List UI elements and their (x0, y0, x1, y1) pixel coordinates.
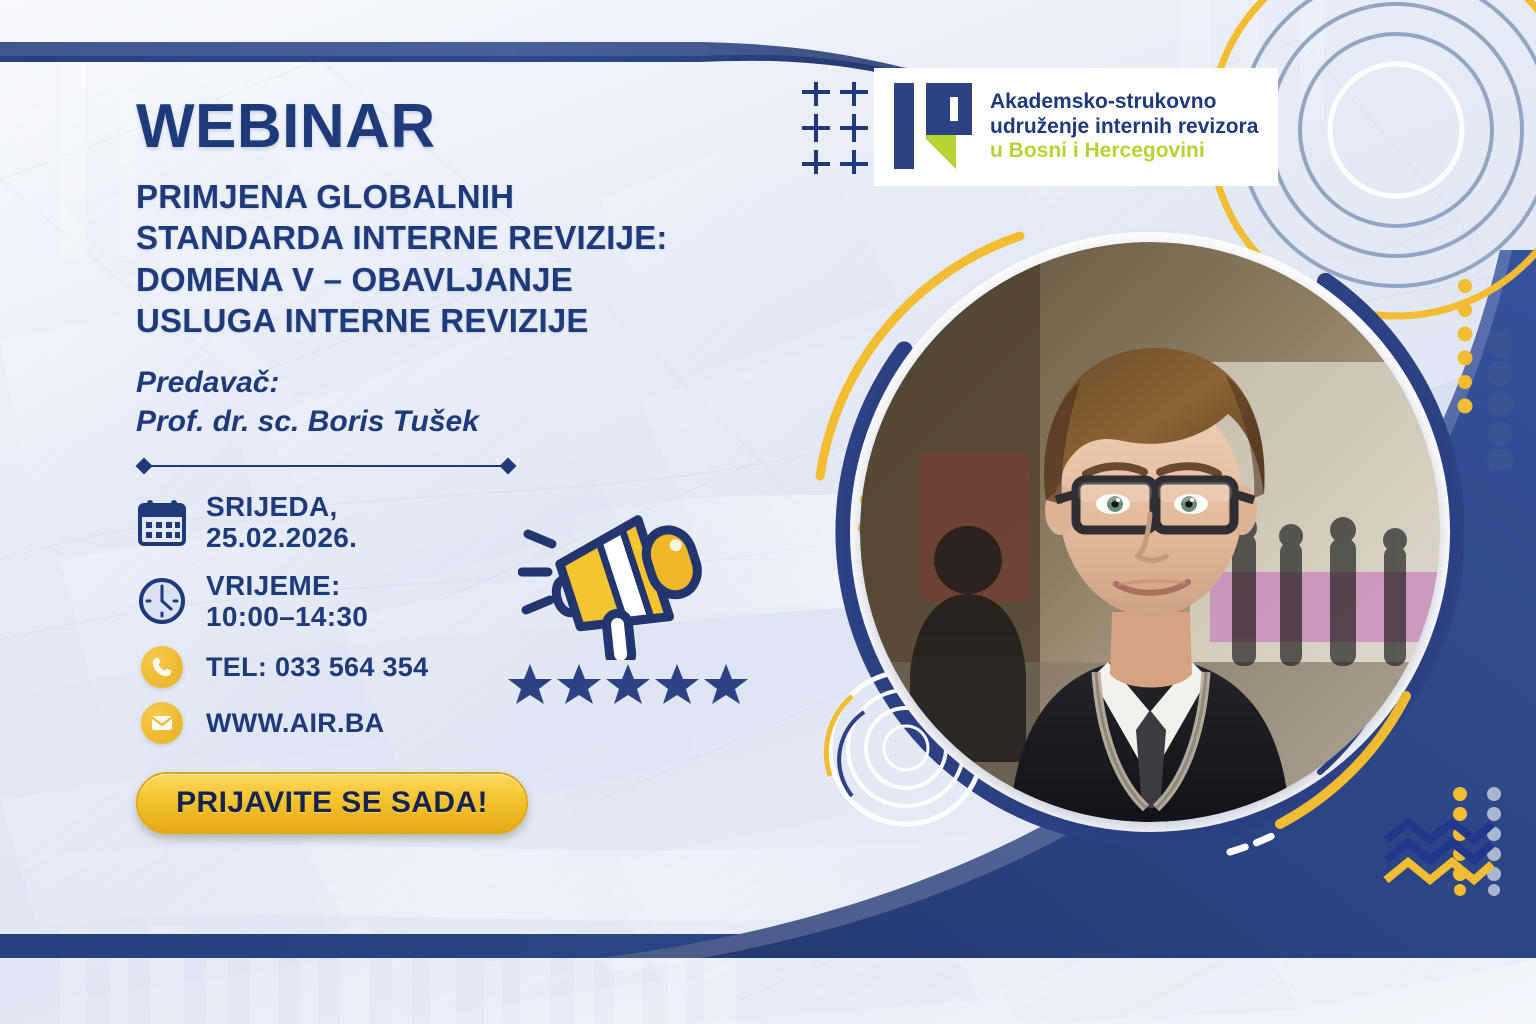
phone-text: TEL: 033 564 354 (206, 652, 428, 682)
time-text: VRIJEME: 10:00–14:30 (206, 570, 368, 633)
clock-icon (136, 576, 188, 626)
logo-line-1: Akademsko-strukovno (990, 90, 1258, 115)
webinar-poster: Akademsko-strukovno udruženje internih r… (0, 0, 1536, 1024)
register-button[interactable]: PRIJAVITE SE SADA! (136, 772, 528, 834)
speaker-label: Predavač: (136, 363, 756, 402)
headline-line-2: STANDARDA INTERNE REVIZIJE: (136, 217, 756, 258)
divider (136, 457, 516, 475)
navy-dot-column-icon (1482, 330, 1518, 470)
poster-content: WEBINAR PRIMJENA GLOBALNIH STANDARDA INT… (136, 96, 756, 834)
date-line-1: SRIJEDA, (206, 491, 357, 522)
speaker-portrait (760, 176, 1480, 892)
speaker-portrait-photo (860, 242, 1440, 822)
date-row: SRIJEDA, 25.02.2026. (136, 491, 756, 554)
time-row: VRIJEME: 10:00–14:30 (136, 570, 756, 633)
register-button-label: PRIJAVITE SE SADA! (176, 786, 488, 820)
time-line-2: 10:00–14:30 (206, 601, 368, 632)
zigzag-decoration-icon (1380, 818, 1500, 888)
plus-grid-icon (798, 82, 868, 174)
speaker-name: Prof. dr. sc. Boris Tušek (136, 402, 756, 441)
headline: PRIMJENA GLOBALNIH STANDARDA INTERNE REV… (136, 176, 756, 341)
website-row[interactable]: WWW.AIR.BA (136, 702, 756, 744)
divider-line (146, 465, 506, 467)
gold-dot-column-icon (1452, 278, 1478, 428)
divider-diamond-right (500, 458, 517, 475)
ir-monogram-logo-icon (892, 79, 974, 175)
headline-line-3: DOMENA V – OBAVLJANJE (136, 259, 756, 300)
calendar-icon (136, 497, 188, 547)
date-line-2: 25.02.2026. (206, 522, 357, 553)
organization-logo-panel: Akademsko-strukovno udruženje internih r… (874, 68, 1278, 186)
date-text: SRIJEDA, 25.02.2026. (206, 491, 357, 554)
logo-line-3: u Bosni i Hercegovini (990, 139, 1258, 164)
page-title: WEBINAR (136, 96, 756, 158)
phone-row[interactable]: TEL: 033 564 354 (136, 646, 756, 688)
headline-line-4: USLUGA INTERNE REVIZIJE (136, 300, 756, 341)
phone-icon (141, 646, 183, 688)
organization-logo-text: Akademsko-strukovno udruženje internih r… (990, 90, 1258, 164)
website-text: WWW.AIR.BA (206, 708, 384, 738)
logo-line-2: udruženje internih revizora (990, 115, 1258, 140)
speaker-block: Predavač: Prof. dr. sc. Boris Tušek (136, 363, 756, 441)
envelope-icon (141, 702, 183, 744)
headline-line-1: PRIMJENA GLOBALNIH (136, 176, 756, 217)
time-line-1: VRIJEME: (206, 570, 368, 601)
